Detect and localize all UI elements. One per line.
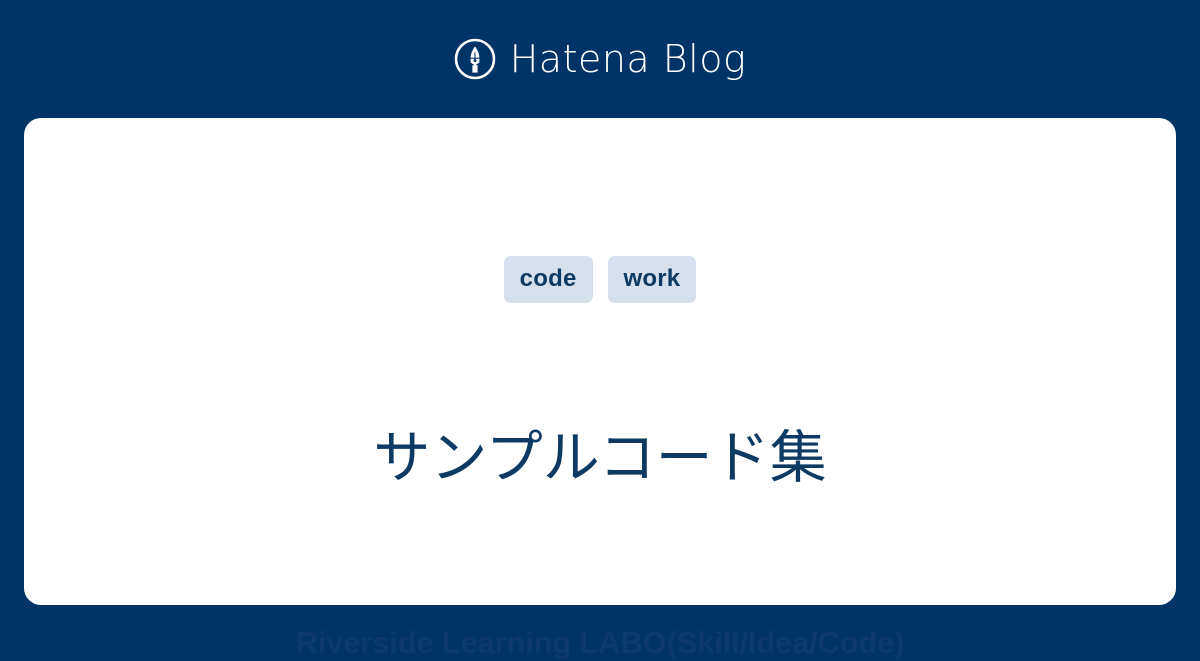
tag-list: code work bbox=[24, 256, 1176, 303]
hatena-pen-nib-icon bbox=[454, 38, 496, 80]
tag-chip-work[interactable]: work bbox=[608, 256, 697, 303]
entry-card: code work サンプルコード集 Riverside Learning LA… bbox=[24, 118, 1176, 605]
hatena-blog-header: Hatena Blog bbox=[0, 0, 1200, 118]
tag-chip-code[interactable]: code bbox=[504, 256, 593, 303]
og-image-canvas: Hatena Blog code work サンプルコード集 Riverside… bbox=[0, 0, 1200, 630]
entry-title: サンプルコード集 bbox=[24, 423, 1176, 494]
brand-name-label: Hatena Blog bbox=[510, 40, 747, 78]
